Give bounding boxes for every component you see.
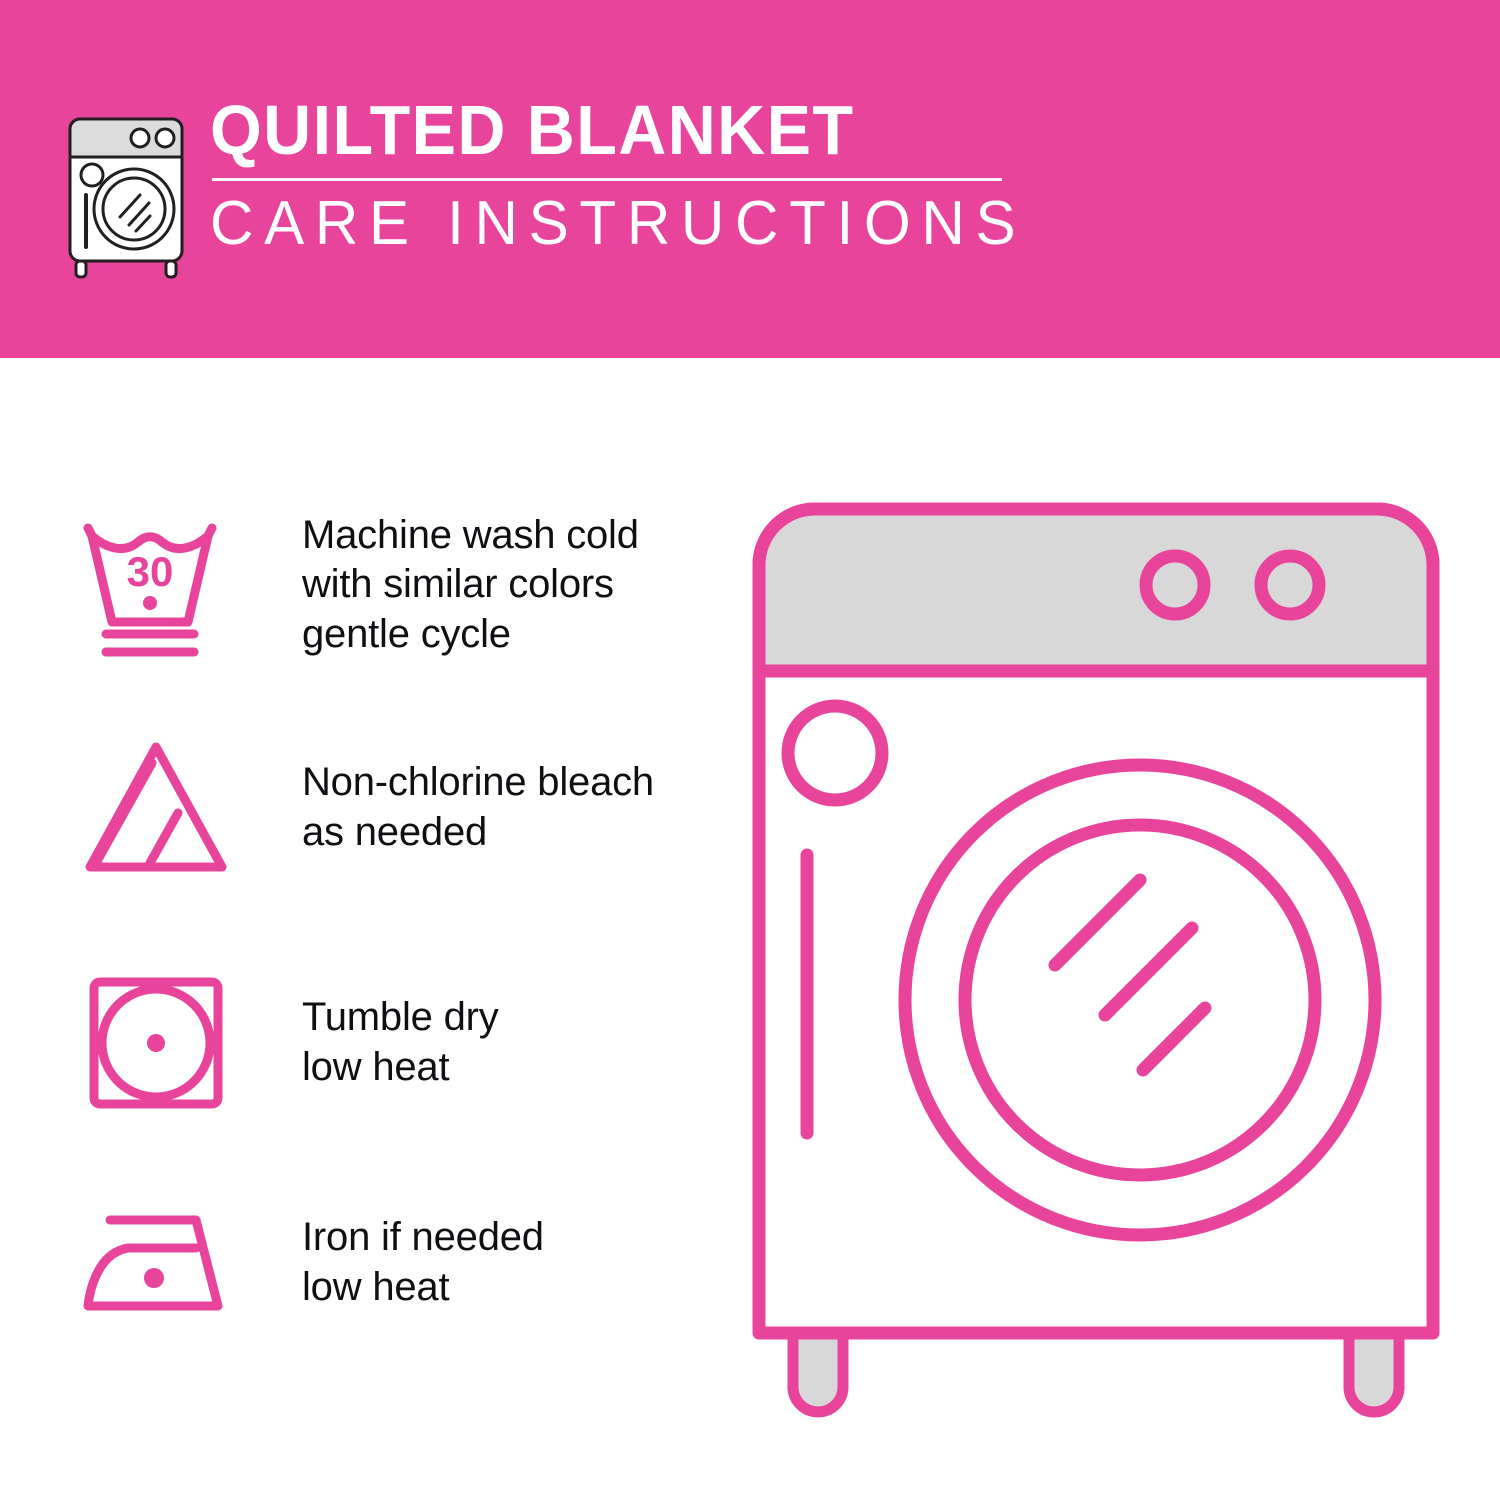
washing-machine-illustration [745,495,1445,1425]
care-row: Iron if needed low heat [72,1188,712,1338]
care-symbol-wrapper: 30 [72,510,240,660]
machine-control-panel [765,515,1427,665]
washing-machine-icon [62,113,190,281]
header-content: QUILTED BLANKET CARE INSTRUCTIONS [62,95,1010,281]
wash-tub-30-icon: 30 [72,510,240,660]
page-title: QUILTED BLANKET [210,95,970,165]
care-instructions-list: 30 Machine wash cold with similar colors… [0,358,740,1500]
title-divider [212,178,1002,181]
care-row: Tumble dry low heat [72,968,712,1118]
care-row-text: Machine wash cold with similar colors ge… [302,511,639,660]
care-symbol-wrapper [72,968,240,1118]
care-row: Non-chlorine bleach as needed [72,733,712,883]
tumble-dry-low-icon [72,968,240,1118]
iron-low-heat-icon [72,1188,240,1338]
title-block: QUILTED BLANKET CARE INSTRUCTIONS [210,95,1010,255]
care-row-text: Iron if needed low heat [302,1213,544,1312]
page-subtitle: CARE INSTRUCTIONS [210,193,986,255]
care-row: 30 Machine wash cold with similar colors… [72,510,712,660]
header-banner: QUILTED BLANKET CARE INSTRUCTIONS [0,0,1500,358]
care-symbol-wrapper [72,1188,240,1338]
care-symbol-wrapper [72,733,240,883]
non-chlorine-bleach-triangle-icon [72,733,240,883]
care-row-text: Non-chlorine bleach as needed [302,758,654,857]
wash-temperature-value: 30 [127,548,174,595]
care-row-text: Tumble dry low heat [302,993,499,1092]
